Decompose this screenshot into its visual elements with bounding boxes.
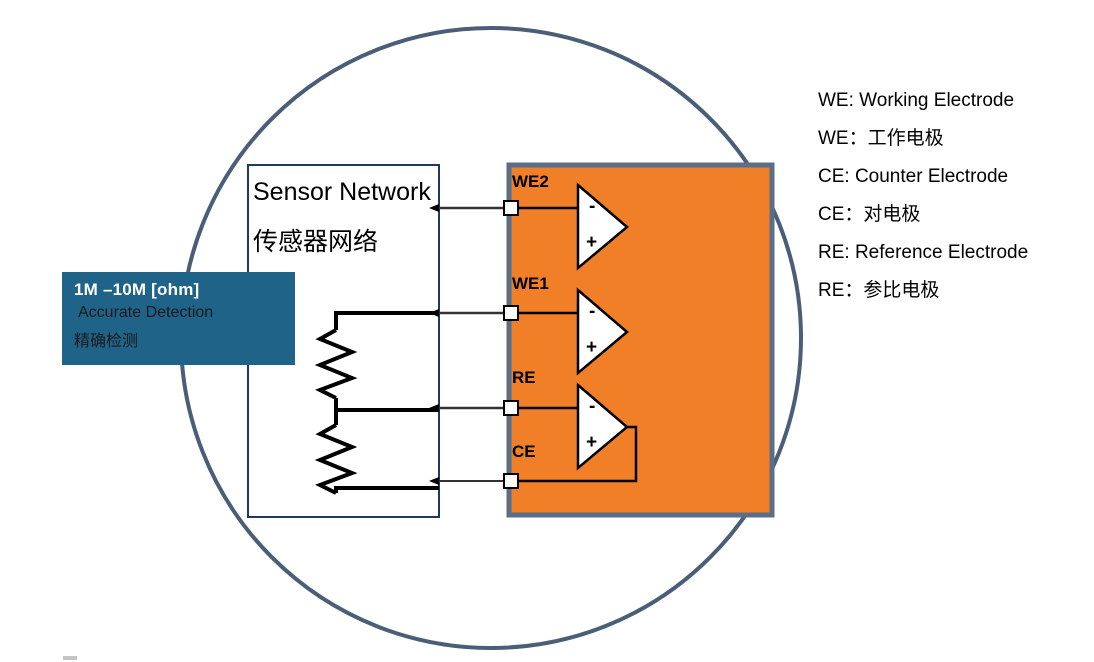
terminal-we1[interactable] (504, 306, 518, 320)
diagram-canvas: - + - + - + Sen (0, 0, 1094, 662)
legend: WE: Working Electrode WE：工作电极 CE: Counte… (818, 82, 1080, 310)
callout-title: 1M –10M [ohm] (74, 280, 295, 300)
legend-item-re-zh: RE：参比电极 (818, 272, 1080, 310)
callout-subtitle-en: Accurate Detection (74, 304, 295, 322)
legend-item-ce-en: CE: Counter Electrode (818, 158, 1080, 196)
terminal-ce[interactable] (504, 474, 518, 488)
legend-item-ce-zh: CE：对电极 (818, 196, 1080, 234)
artifact-mark (63, 656, 77, 660)
svg-text:+: + (586, 232, 597, 253)
svg-text:+: + (586, 337, 597, 358)
legend-item-we-zh: WE：工作电极 (818, 120, 1080, 158)
svg-text:-: - (589, 196, 595, 217)
callout-box: 1M –10M [ohm] Accurate Detection 精确检测 (62, 272, 295, 365)
terminal-we2[interactable] (504, 201, 518, 215)
afe-block (509, 165, 772, 515)
legend-item-re-en: RE: Reference Electrode (818, 234, 1080, 272)
terminal-re[interactable] (504, 401, 518, 415)
svg-text:+: + (586, 432, 597, 453)
svg-text:-: - (589, 301, 595, 322)
svg-text:-: - (589, 396, 595, 417)
callout-subtitle-zh: 精确检测 (74, 327, 295, 351)
legend-item-we-en: WE: Working Electrode (818, 82, 1080, 120)
